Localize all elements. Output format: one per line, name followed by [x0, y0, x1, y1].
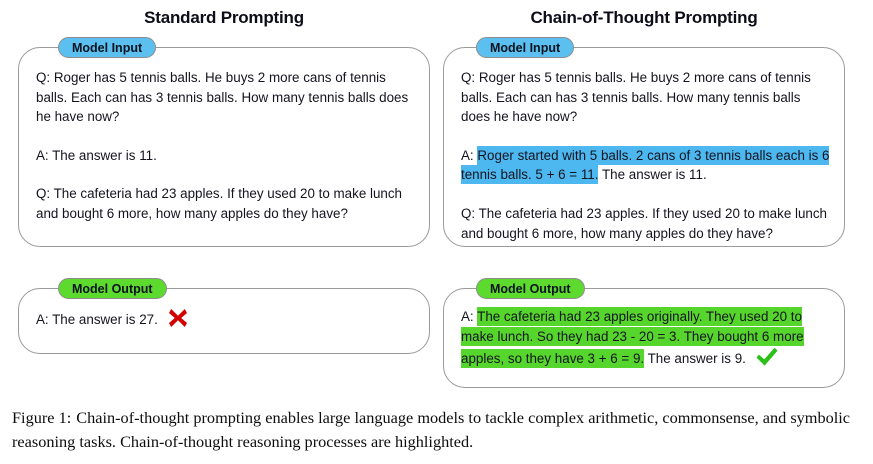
cot-input-question-2: Q: The cafeteria had 23 apples. If they … [461, 204, 833, 243]
cot-output-answer-prefix: A: [461, 309, 474, 324]
standard-output-text: A: The answer is 27. [36, 307, 414, 330]
figure-container: Standard Prompting Chain-of-Thought Prom… [0, 0, 873, 464]
figure-caption: Figure 1:Chain-of-thought prompting enab… [12, 406, 864, 454]
standard-input-question-1: Q: Roger has 5 tennis balls. He buys 2 m… [36, 68, 414, 127]
badge-model-output-standard: Model Output [58, 278, 167, 299]
cot-output-answer: A: The cafeteria had 23 apples originall… [461, 307, 833, 369]
cot-input-answer-prefix: A: [461, 148, 474, 163]
standard-output-answer-label: A: The answer is 27. [36, 312, 158, 327]
cot-output-reasoning-highlight: The cafeteria had 23 apples originally. … [461, 309, 804, 366]
badge-model-output-cot: Model Output [476, 278, 585, 299]
chain-of-thought-prompting-title: Chain-of-Thought Prompting [443, 8, 845, 28]
standard-input-text: Q: Roger has 5 tennis balls. He buys 2 m… [36, 68, 414, 224]
cot-input-text: Q: Roger has 5 tennis balls. He buys 2 m… [461, 68, 833, 243]
cot-input-answer-tail: The answer is 11. [602, 167, 707, 182]
cot-input-question-1: Q: Roger has 5 tennis balls. He buys 2 m… [461, 68, 833, 127]
standard-output-answer: A: The answer is 27. [36, 307, 414, 330]
cot-input-answer-1: A: Roger started with 5 balls. 2 cans of… [461, 146, 833, 185]
check-mark-icon [755, 346, 779, 368]
standard-prompting-title: Standard Prompting [18, 8, 430, 28]
badge-model-input-standard: Model Input [58, 37, 156, 58]
cot-output-answer-tail: The answer is 9. [648, 351, 746, 366]
standard-input-question-2: Q: The cafeteria had 23 apples. If they … [36, 184, 414, 223]
cot-output-text: A: The cafeteria had 23 apples originall… [461, 307, 833, 369]
figure-caption-text: Chain-of-thought prompting enables large… [12, 408, 850, 451]
standard-input-answer-1: A: The answer is 11. [36, 146, 414, 166]
figure-caption-label: Figure 1: [12, 408, 71, 427]
badge-model-input-cot: Model Input [476, 37, 574, 58]
cross-mark-icon [167, 307, 189, 329]
